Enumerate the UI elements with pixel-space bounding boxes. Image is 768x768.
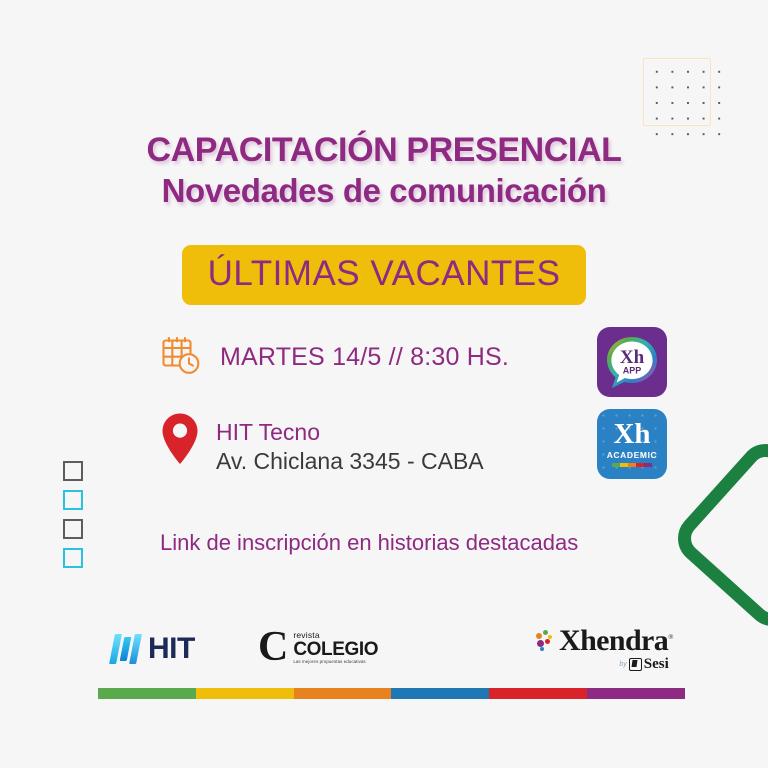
xh-academic-badge[interactable]: Xh ACADEMIC bbox=[597, 409, 667, 479]
hit-wordmark: HIT bbox=[148, 632, 195, 666]
deco-square bbox=[63, 490, 83, 510]
hit-mark-icon bbox=[112, 632, 139, 666]
colegio-tagline: Las mejores propuestas educativas bbox=[293, 660, 378, 665]
page-title: CAPACITACIÓN PRESENCIAL Novedades de com… bbox=[0, 133, 768, 207]
location-row: HIT Tecno Av. Chiclana 3345 - CABA bbox=[160, 412, 484, 477]
banner-container: ÚLTIMAS VACANTES bbox=[0, 245, 768, 305]
by-label: by bbox=[619, 661, 626, 668]
title-line-1: CAPACITACIÓN PRESENCIAL bbox=[0, 133, 768, 167]
map-pin-icon bbox=[160, 412, 200, 471]
dot-grid-icon bbox=[645, 60, 723, 138]
venue-name: HIT Tecno bbox=[216, 418, 484, 447]
xhendra-logo: Xhendra® by Sesi bbox=[536, 626, 673, 672]
xhendra-wordmark: Xhendra® bbox=[559, 626, 673, 656]
date-text: MARTES 14/5 // 8:30 HS. bbox=[220, 343, 509, 372]
green-rounded-square-icon bbox=[667, 433, 768, 636]
deco-square bbox=[63, 461, 83, 481]
registered-icon: ® bbox=[668, 633, 673, 641]
calendar-clock-icon bbox=[160, 334, 202, 381]
poster-canvas: CAPACITACIÓN PRESENCIAL Novedades de com… bbox=[0, 0, 768, 768]
sesi-mark-icon bbox=[629, 658, 642, 671]
date-row: MARTES 14/5 // 8:30 HS. bbox=[160, 334, 509, 381]
badge-subtitle: ACADEMIC bbox=[607, 450, 658, 460]
brand-color-bar bbox=[98, 688, 685, 699]
svg-text:APP: APP bbox=[623, 366, 642, 376]
badge-content: Xh ACADEMIC bbox=[597, 409, 667, 479]
colegio-logo: C revista COLEGIO Las mejores propuestas… bbox=[258, 630, 378, 665]
xhendra-partner: by Sesi bbox=[536, 657, 673, 672]
xh-app-badge[interactable]: Xh APP bbox=[597, 327, 667, 397]
colegio-name: COLEGIO bbox=[293, 640, 378, 659]
xhendra-top: Xhendra® bbox=[536, 626, 673, 656]
colegio-text: revista COLEGIO Las mejores propuestas e… bbox=[293, 631, 378, 665]
sesi-wordmark: Sesi bbox=[644, 657, 669, 672]
deco-square bbox=[63, 548, 83, 568]
dot-grid-dots bbox=[645, 60, 723, 138]
square-stack-decoration bbox=[63, 461, 85, 577]
registration-link-note: Link de inscripción en historias destaca… bbox=[160, 530, 578, 556]
badge-color-bar bbox=[612, 463, 652, 467]
badge-title: Xh bbox=[613, 421, 650, 449]
location-text: HIT Tecno Av. Chiclana 3345 - CABA bbox=[216, 412, 484, 477]
title-line-2: Novedades de comunicación bbox=[0, 174, 768, 207]
hit-logo: HIT bbox=[112, 632, 195, 666]
colegio-initial: C bbox=[258, 630, 288, 665]
venue-address: Av. Chiclana 3345 - CABA bbox=[216, 447, 484, 476]
deco-square bbox=[63, 519, 83, 539]
footer-logos: HIT C revista COLEGIO Las mejores propue… bbox=[0, 622, 768, 682]
status-badge: ÚLTIMAS VACANTES bbox=[182, 245, 587, 305]
xhendra-dots-icon bbox=[536, 630, 556, 652]
